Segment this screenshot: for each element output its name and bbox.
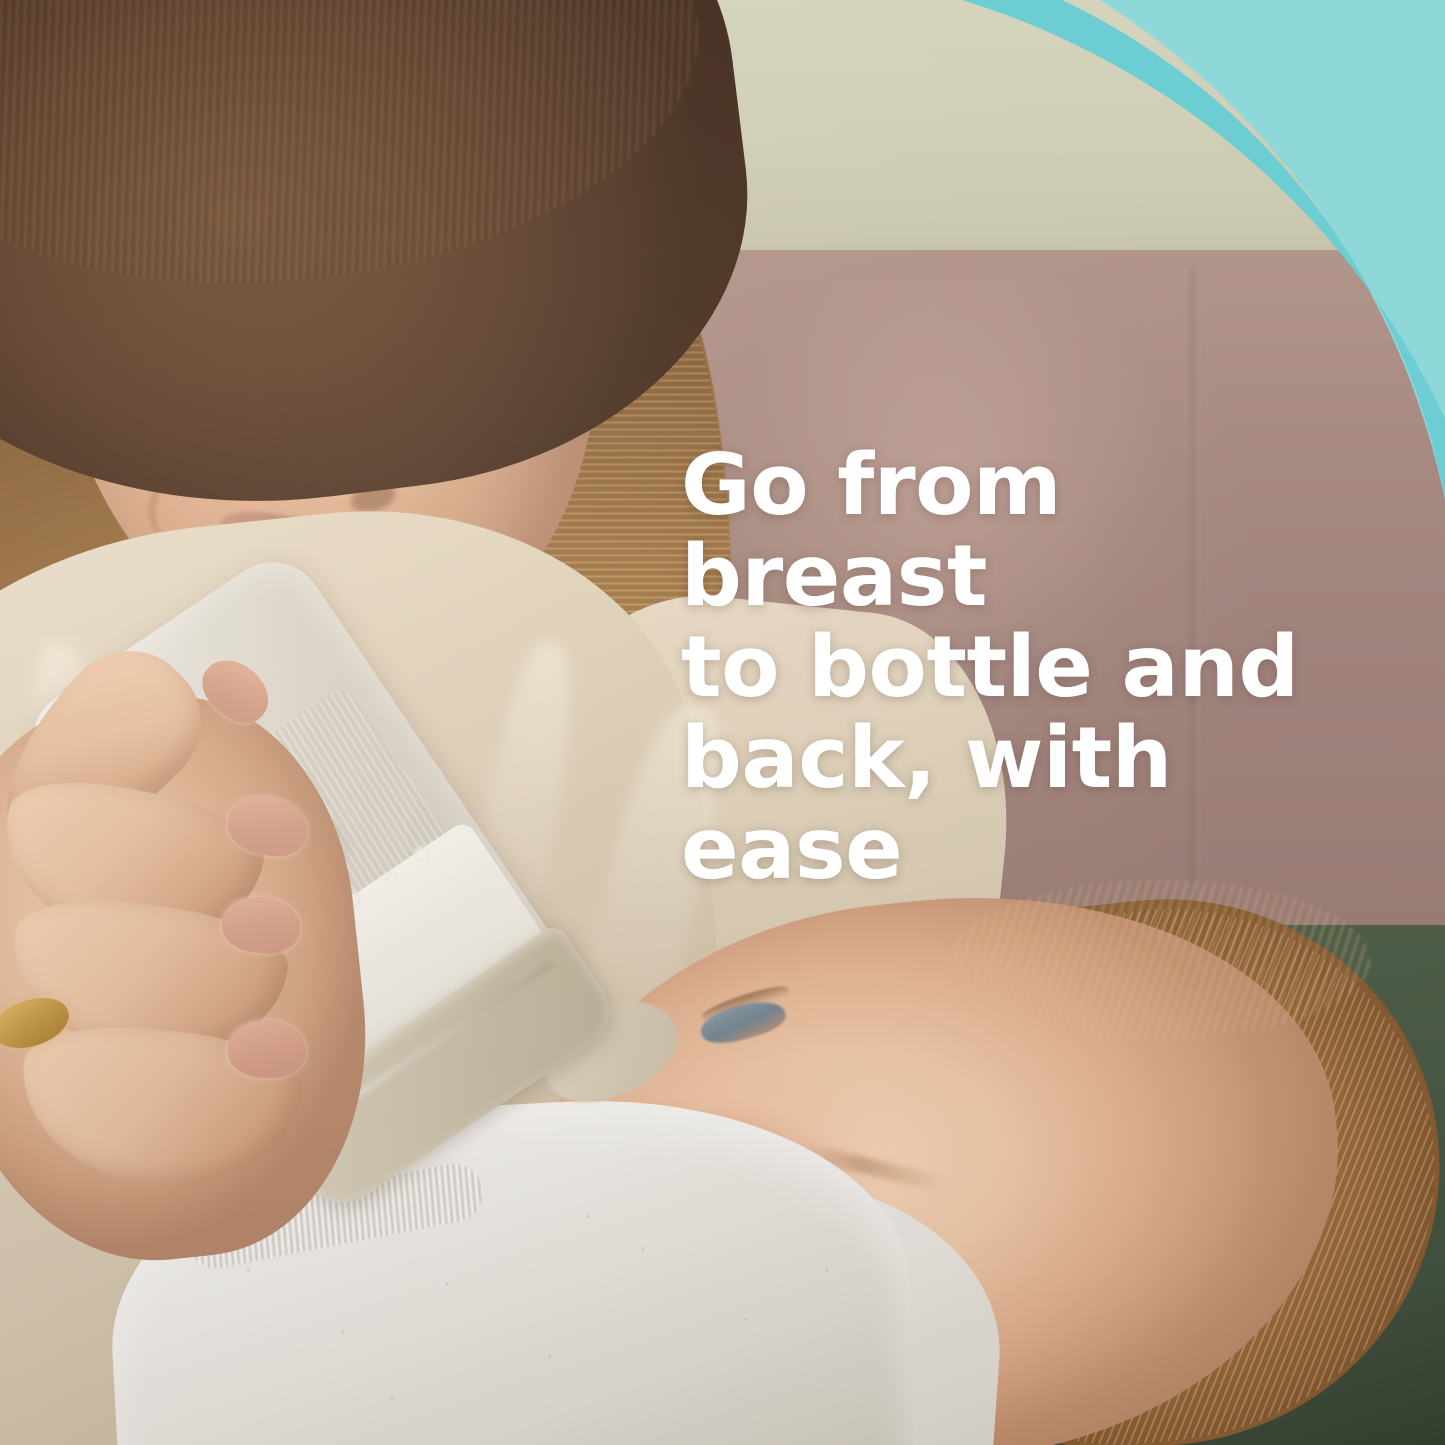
headline-text: Go from breast to bottle and back, with … (681, 441, 1341, 896)
baby-hair-wisps (950, 880, 1370, 1040)
advertisement-banner: Go from breast to bottle and back, with … (0, 0, 1445, 1445)
